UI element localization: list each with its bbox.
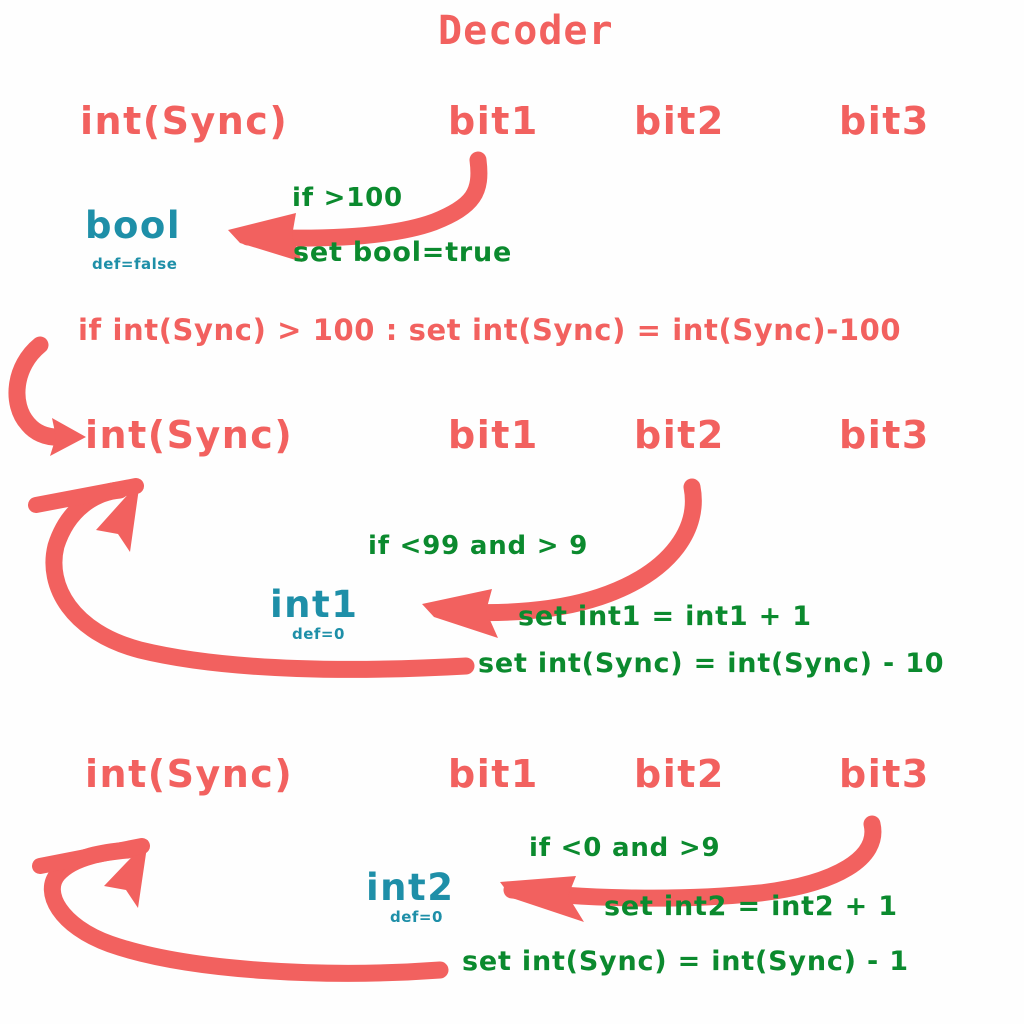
section-3-header-bit1: bit1 bbox=[448, 752, 539, 796]
section-1-header-int-sync: int(Sync) bbox=[80, 99, 288, 143]
section-2-header-bit2: bit2 bbox=[634, 413, 725, 457]
variable-bool: bool bbox=[85, 204, 181, 247]
variable-bool-default: def=false bbox=[92, 255, 177, 273]
arrow-carry-hook bbox=[17, 345, 86, 456]
variable-int2-default: def=0 bbox=[390, 908, 443, 926]
section-1-header-bit1: bit1 bbox=[448, 99, 539, 143]
carry-expression: if int(Sync) > 100 : set int(Sync) = int… bbox=[78, 313, 901, 347]
section-2-action-2: set int(Sync) = int(Sync) - 10 bbox=[478, 648, 944, 679]
variable-int2: int2 bbox=[366, 866, 454, 909]
section-3-header-int-sync: int(Sync) bbox=[85, 752, 293, 796]
section-1-condition: if >100 bbox=[292, 183, 403, 213]
section-2-header-bit1: bit1 bbox=[448, 413, 539, 457]
section-1-header-bit3: bit3 bbox=[839, 99, 930, 143]
variable-int1: int1 bbox=[270, 583, 358, 626]
section-1-header-bit2: bit2 bbox=[634, 99, 725, 143]
section-2-action-1: set int1 = int1 + 1 bbox=[518, 601, 812, 632]
section-3-action-1: set int2 = int2 + 1 bbox=[604, 891, 898, 922]
variable-int1-default: def=0 bbox=[292, 625, 345, 643]
arrow-int1-loop-back bbox=[36, 481, 466, 669]
section-3-header-bit2: bit2 bbox=[634, 752, 725, 796]
section-2-header-bit3: bit3 bbox=[839, 413, 930, 457]
arrow-layer bbox=[0, 0, 1024, 1024]
section-2-header-int-sync: int(Sync) bbox=[85, 413, 293, 457]
decoder-diagram: Decoder int(Sync) bit1 bit2 bit3 bool de… bbox=[0, 0, 1024, 1024]
section-3-action-2: set int(Sync) = int(Sync) - 1 bbox=[462, 946, 909, 977]
section-2-condition: if <99 and > 9 bbox=[368, 531, 588, 561]
section-3-header-bit3: bit3 bbox=[839, 752, 930, 796]
section-1-action-1: set bool=true bbox=[293, 237, 512, 268]
section-3-condition: if <0 and >9 bbox=[529, 833, 720, 863]
page-title: Decoder bbox=[438, 8, 614, 54]
